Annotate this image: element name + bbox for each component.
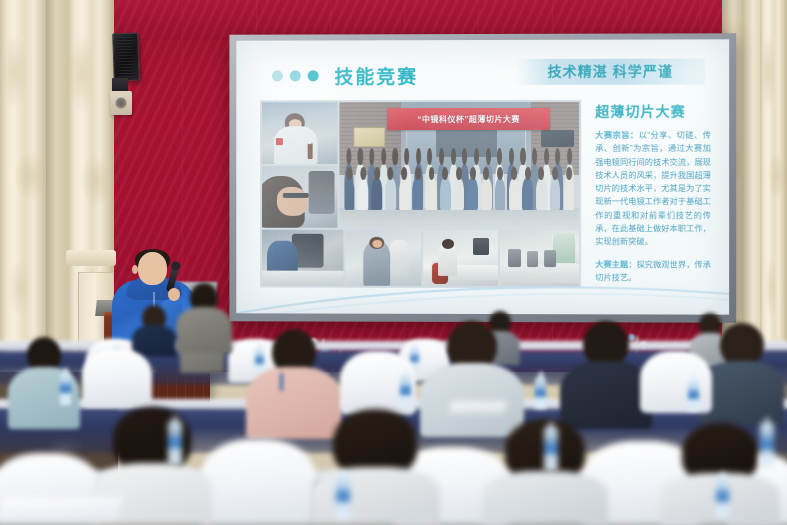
paragraph-body-purpose: 以“分享、切磋、传承、创新”为宗旨，通过大赛加强电镜同行间的技术交流，展现技术人… — [595, 131, 711, 247]
paragraph-lead-theme: 大赛主题： — [595, 260, 636, 269]
collage-bottom-strip — [262, 230, 579, 286]
slide-dots — [272, 70, 319, 81]
attendee — [560, 329, 652, 429]
water-bottle — [535, 377, 546, 409]
slide-title: 技能竞赛 — [334, 62, 418, 89]
attendee — [176, 287, 232, 353]
attendee — [310, 413, 440, 525]
photo-operator-at-microscope — [262, 166, 337, 228]
speaker-bracket — [112, 78, 128, 92]
water-bottle — [168, 421, 182, 465]
photo-lab-workstation — [423, 230, 498, 286]
paging-speaker-icon — [110, 91, 132, 115]
audience — [0, 295, 787, 525]
photo-contestants-working — [262, 230, 343, 286]
slide-slogan-band: 技术精湛 科学严谨 — [516, 58, 705, 84]
water-bottle — [544, 427, 558, 471]
water-bottle — [760, 423, 774, 467]
presenter-head — [138, 252, 167, 285]
water-bottle — [60, 373, 71, 405]
slide-text-title: 超薄切片大赛 — [595, 102, 711, 122]
water-bottle — [716, 477, 729, 517]
photo-group-photo: “中镜科仪杯”超薄切片大赛 — [339, 102, 579, 228]
chair — [82, 349, 152, 407]
projection-screen[interactable]: 技能竞赛 技术精湛 科学严谨 — [229, 33, 736, 322]
attendee — [700, 329, 784, 425]
column-capital — [66, 250, 116, 266]
conference-hall-scene: 技能竞赛 技术精湛 科学严谨 — [0, 0, 787, 525]
paragraph-lead-purpose: 大赛宗旨： — [595, 131, 638, 140]
photo-collage: “中镜科仪杯”超薄切片大赛 — [260, 100, 581, 288]
slide-text-panel: 超薄切片大赛 大赛宗旨：以“分享、切磋、传承、创新”为宗旨，通过大赛加强电镜同行… — [591, 100, 711, 289]
presenter-ear — [132, 265, 138, 274]
photo-technician-at-workbench — [262, 102, 337, 164]
chair — [200, 439, 316, 525]
water-bottle — [336, 475, 350, 519]
attendee — [132, 309, 176, 357]
dot-mid-icon — [290, 70, 301, 81]
photo-judges-reviewing — [346, 230, 421, 286]
water-bottle — [688, 380, 699, 411]
loudspeaker-icon — [112, 33, 140, 82]
dot-dark-icon — [308, 70, 319, 81]
handout-paper — [0, 497, 123, 519]
photo-laboratory-room — [500, 230, 579, 286]
dot-light-icon — [272, 70, 283, 81]
slide-paragraph-purpose: 大赛宗旨：以“分享、切磋、传承、创新”为宗旨，通过大赛加强电镜同行间的技术交流，… — [595, 129, 711, 249]
water-bottle — [400, 375, 411, 407]
presentation-slide: 技能竞赛 技术精湛 科学严谨 — [236, 39, 729, 314]
chair — [640, 351, 712, 413]
handout-paper — [449, 401, 507, 413]
slide-paragraph-theme: 大赛主题：探究微观世界，传承切片技艺。 — [595, 258, 711, 285]
slide-body: “中镜科仪杯”超薄切片大赛 — [260, 100, 711, 289]
slide-slogan: 技术精湛 科学严谨 — [548, 62, 673, 82]
